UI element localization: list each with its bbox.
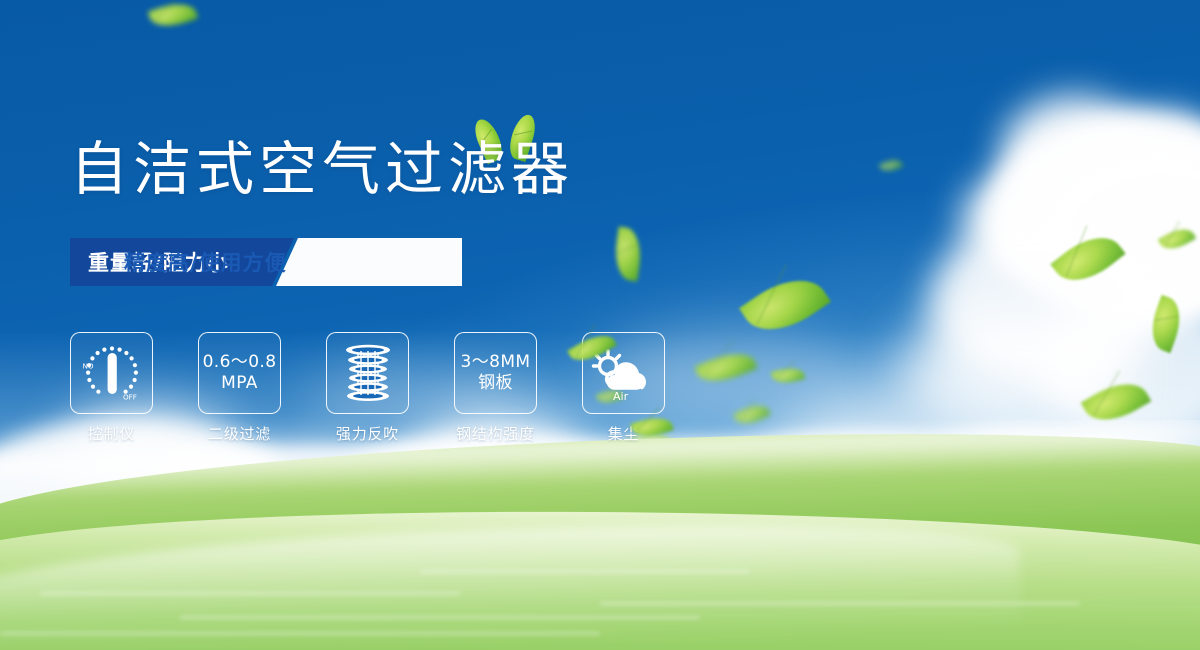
steel-thickness: 3〜8MM: [461, 352, 531, 373]
feature-icon-box: 3〜8MM 钢板: [454, 332, 537, 414]
steel-material: 钢板: [461, 373, 531, 394]
pressure-text-icon: 0.6〜0.8 MPA: [203, 352, 277, 393]
control-gauge-icon: NO OFF: [79, 340, 145, 406]
gauge-on-label: NO: [82, 362, 93, 371]
feature-icon-box: [326, 332, 409, 414]
feature-label: 控制仪: [88, 423, 135, 444]
feature-item-backblow[interactable]: 强力反吹: [326, 332, 409, 444]
feature-label: 二级过滤: [208, 423, 271, 444]
feature-item-control[interactable]: NO OFF 控制仪: [70, 332, 153, 444]
feature-label: 强力反吹: [336, 423, 399, 444]
tagline-right-shape: [276, 238, 462, 286]
pressure-unit: MPA: [203, 373, 277, 394]
feature-item-steel[interactable]: 3〜8MM 钢板 钢结构强度: [454, 332, 537, 444]
filter-coil-icon: [338, 342, 398, 404]
feature-icon-box: NO OFF: [70, 332, 153, 414]
feature-label: 钢结构强度: [456, 423, 535, 444]
feature-icon-box: 0.6〜0.8 MPA: [198, 332, 281, 414]
banner-content: 自洁式空气过滤器 重量轻/阻力小 精度高/使用方便: [0, 0, 1200, 650]
feature-item-pressure[interactable]: 0.6〜0.8 MPA 二级过滤: [198, 332, 281, 444]
pressure-range: 0.6〜0.8: [203, 352, 277, 373]
steel-plate-text-icon: 3〜8MM 钢板: [461, 352, 531, 393]
product-hero-banner: 自洁式空气过滤器 重量轻/阻力小 精度高/使用方便: [0, 0, 1200, 650]
tagline-bar: 重量轻/阻力小 精度高/使用方便: [70, 238, 462, 286]
gauge-off-label: OFF: [123, 393, 137, 402]
tagline-right-text: 精度高/使用方便: [124, 238, 287, 286]
air-label: Air: [613, 390, 629, 403]
page-title: 自洁式空气过滤器: [70, 140, 574, 198]
